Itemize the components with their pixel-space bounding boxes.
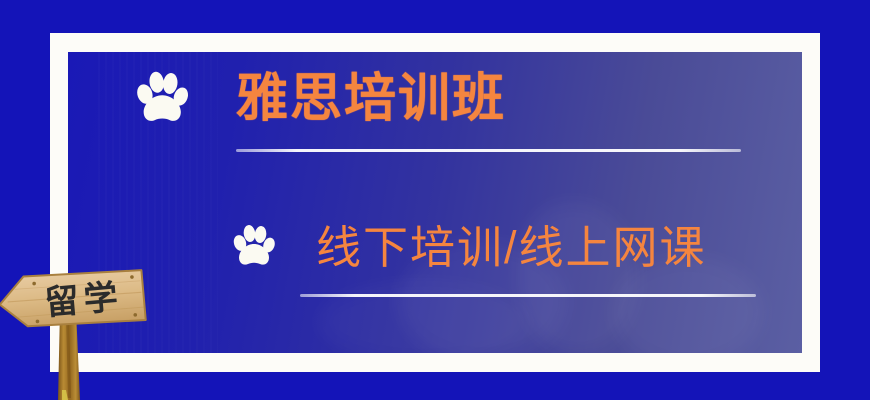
title-underline (236, 149, 741, 152)
page-title: 雅思培训班 (236, 73, 506, 125)
title-row: 雅思培训班 (130, 68, 506, 130)
signpost-label: 留学 (43, 277, 124, 323)
paw-print-icon (130, 68, 192, 130)
subtitle-row: 线下培训/线上网课 (228, 222, 707, 272)
wooden-signpost-icon: 留学 (0, 258, 156, 400)
subtitle-underline (300, 294, 756, 297)
promo-banner: 雅思培训班 线下培训/线上网课 (0, 0, 870, 400)
page-subtitle: 线下培训/线上网课 (316, 225, 707, 270)
ghost-photo-shape (318, 282, 528, 353)
signpost-board: 留学 (0, 266, 146, 332)
paw-print-icon (228, 222, 278, 272)
